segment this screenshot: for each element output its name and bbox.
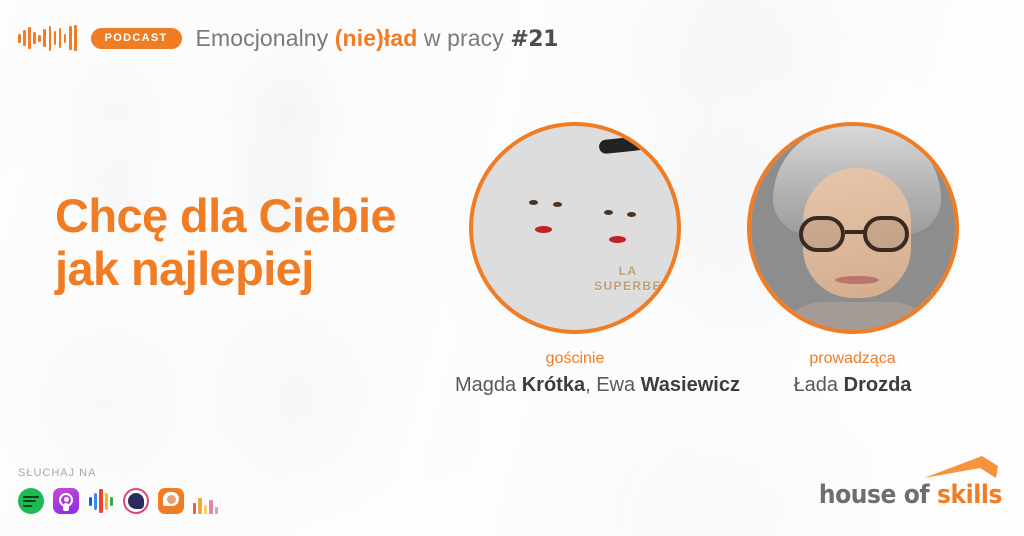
eyeglasses-left-icon [799,216,845,252]
host-name: Łada Drozda [740,374,965,397]
headline-line-2: jak najlepiej [55,243,396,296]
host-firstname: Łada [794,374,844,396]
host-avatar [747,122,959,334]
host-mouth [835,276,879,284]
listen-on-section: SŁUCHAJ NA [18,467,219,514]
show-title-part1: Emocjonalny [196,25,335,51]
platform-icons-row [18,488,219,514]
house-of-skills-logo: house of skills [819,480,1002,510]
eyeglasses-right-icon [863,216,909,252]
listen-on-label: SŁUCHAJ NA [18,467,219,479]
spreaker-icon[interactable] [158,488,184,514]
guests-block: LA SUPERBE gościnie Magda Krótka, Ewa Wa… [455,122,695,397]
episode-number: #21 [510,27,558,52]
host-role-label: prowadząca [740,350,965,368]
guests-separator: , Ewa [585,374,641,396]
roof-chevron-icon [922,454,1000,480]
guest-2-lastname: Wasiewicz [641,374,740,396]
spotify-icon[interactable] [18,488,44,514]
audio-waveform-icon [18,25,77,51]
host-block: prowadząca Łada Drozda [740,122,965,397]
guests-names: Magda Krótka, Ewa Wasiewicz [455,374,695,397]
episode-headline: Chcę dla Ciebie jak najlepiej [55,190,396,295]
show-title-part2: w pracy [417,25,510,51]
logo-text-skills: skills [937,480,1002,510]
guests-avatar: LA SUPERBE [469,122,681,334]
host-lastname: Drozda [844,374,912,396]
shirt-text-line-1: LA [585,264,671,279]
guest-1-lastname: Krótka [522,374,585,396]
logo-text-house-of: house of [819,480,937,510]
guests-photo: LA SUPERBE [473,126,677,330]
guests-role-label: gościnie [455,350,695,368]
sunglasses-on-head-icon [598,136,645,155]
headline-line-1: Chcę dla Ciebie [55,190,396,243]
guest-1-firstname: Magda [455,374,522,396]
header-bar: PODCAST Emocjonalny (nie)ład w pracy #21 [18,18,1024,58]
podcast-badge: PODCAST [91,28,182,49]
shirt-text-line-2: SUPERBE [585,279,671,294]
google-podcasts-icon[interactable] [88,488,114,514]
show-title-accent: (nie)ład [335,25,418,51]
show-title: Emocjonalny (nie)ład w pracy #21 [196,25,558,52]
host-photo [751,126,955,330]
shirt-text: LA SUPERBE [585,264,671,294]
logo-text: house of skills [819,480,1002,510]
equalizer-bars-icon[interactable] [193,488,219,514]
host-shoulders [777,302,937,334]
pocket-casts-icon[interactable] [123,488,149,514]
apple-podcasts-icon[interactable] [53,488,79,514]
eyeglasses-bridge [845,230,865,234]
